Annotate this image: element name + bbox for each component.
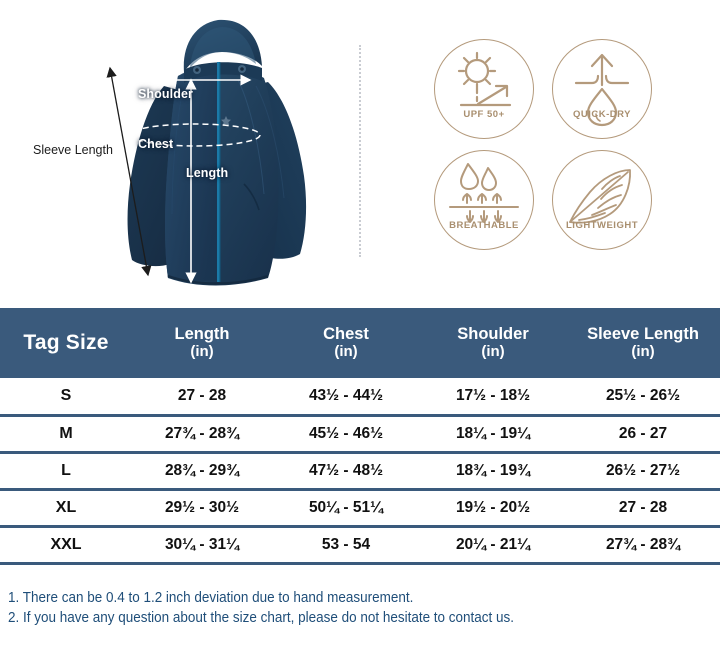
cell-chest: 50¼ - 51¼ (272, 489, 420, 526)
column-header-label: Length (175, 325, 230, 343)
cell-sleeve: 27 - 28 (566, 489, 720, 526)
cell-chest: 47½ - 48½ (272, 452, 420, 489)
length-label: Length (186, 166, 228, 180)
table-header-row: Tag Size Length (in) Chest (in) Shoulder… (0, 308, 720, 378)
cell-length: 27¾ - 28¾ (132, 415, 272, 452)
cell-sleeve: 26 - 27 (566, 415, 720, 452)
quick-dry-arrow-droplet-icon (552, 39, 652, 139)
cell-length: 30¼ - 31¼ (132, 526, 272, 563)
table-row: L 28¾ - 29¾ 47½ - 48½ 18¾ - 19¾ 26½ - 27… (0, 452, 720, 489)
column-header-label: Chest (323, 325, 369, 343)
jacket-diagram-panel: Shoulder Chest Length Sleeve Length (0, 0, 345, 300)
feature-badge-upf: UPF 50+ (425, 38, 543, 149)
feature-badge-quick-dry: QUICK-DRY (543, 38, 661, 149)
feature-badge-lightweight: LIGHTWEIGHT (543, 149, 661, 260)
column-header-unit: (in) (272, 344, 420, 361)
cell-size: XL (0, 489, 132, 526)
column-header-label: Sleeve Length (587, 325, 699, 343)
sleeve-length-label: Sleeve Length (33, 143, 113, 157)
cell-size: XXL (0, 526, 132, 563)
column-header-shoulder: Shoulder (in) (420, 308, 566, 378)
product-illustration-section: Shoulder Chest Length Sleeve Length (0, 0, 720, 300)
cell-size: S (0, 378, 132, 415)
cell-length: 29½ - 30½ (132, 489, 272, 526)
table-header: Tag Size Length (in) Chest (in) Shoulder… (0, 308, 720, 378)
cell-shoulder: 18¾ - 19¾ (420, 452, 566, 489)
cell-shoulder: 20¼ - 21¼ (420, 526, 566, 563)
column-header-unit: (in) (420, 344, 566, 361)
cell-chest: 53 - 54 (272, 526, 420, 563)
footnote-line: 2. If you have any question about the si… (8, 608, 665, 628)
cell-chest: 43½ - 44½ (272, 378, 420, 415)
shoulder-label: Shoulder (138, 87, 193, 101)
column-header-unit: (in) (132, 344, 272, 361)
table-body: S 27 - 28 43½ - 44½ 17½ - 18½ 25½ - 26½ … (0, 378, 720, 563)
column-header-label: Shoulder (457, 325, 529, 343)
cell-shoulder: 18¼ - 19¼ (420, 415, 566, 452)
cell-sleeve: 25½ - 26½ (566, 378, 720, 415)
footnotes: 1. There can be 0.4 to 1.2 inch deviatio… (8, 588, 714, 628)
breathable-droplets-icon (434, 150, 534, 250)
chest-label: Chest (138, 137, 173, 151)
feature-caption: UPF 50+ (425, 109, 543, 120)
sun-uv-icon (434, 39, 534, 139)
table-row: XXL 30¼ - 31¼ 53 - 54 20¼ - 21¼ 27¾ - 28… (0, 526, 720, 563)
feature-badges: UPF 50+ QUICK-DRY (425, 38, 661, 260)
cell-sleeve: 26½ - 27½ (566, 452, 720, 489)
table-row: S 27 - 28 43½ - 44½ 17½ - 18½ 25½ - 26½ (0, 378, 720, 415)
column-header-tag-size: Tag Size (0, 308, 132, 378)
cell-chest: 45½ - 46½ (272, 415, 420, 452)
cell-size: L (0, 452, 132, 489)
feature-badge-breathable: BREATHABLE (425, 149, 543, 260)
cell-shoulder: 19½ - 20½ (420, 489, 566, 526)
column-header-length: Length (in) (132, 308, 272, 378)
column-header-sleeve-length: Sleeve Length (in) (566, 308, 720, 378)
feather-lightweight-icon (552, 150, 652, 250)
table-row: M 27¾ - 28¾ 45½ - 46½ 18¼ - 19¼ 26 - 27 (0, 415, 720, 452)
section-divider (359, 45, 361, 257)
feature-caption: LIGHTWEIGHT (543, 220, 661, 231)
cell-sleeve: 27¾ - 28¾ (566, 526, 720, 563)
column-header-unit: (in) (566, 344, 720, 361)
column-header-label: Tag Size (23, 331, 108, 354)
table-row: XL 29½ - 30½ 50¼ - 51¼ 19½ - 20½ 27 - 28 (0, 489, 720, 526)
size-chart-table: Tag Size Length (in) Chest (in) Shoulder… (0, 308, 720, 565)
cell-length: 28¾ - 29¾ (132, 452, 272, 489)
footnote-line: 1. There can be 0.4 to 1.2 inch deviatio… (8, 588, 665, 608)
feature-caption: BREATHABLE (425, 220, 543, 231)
cell-shoulder: 17½ - 18½ (420, 378, 566, 415)
cell-length: 27 - 28 (132, 378, 272, 415)
column-header-chest: Chest (in) (272, 308, 420, 378)
cell-size: M (0, 415, 132, 452)
feature-caption: QUICK-DRY (543, 109, 661, 120)
